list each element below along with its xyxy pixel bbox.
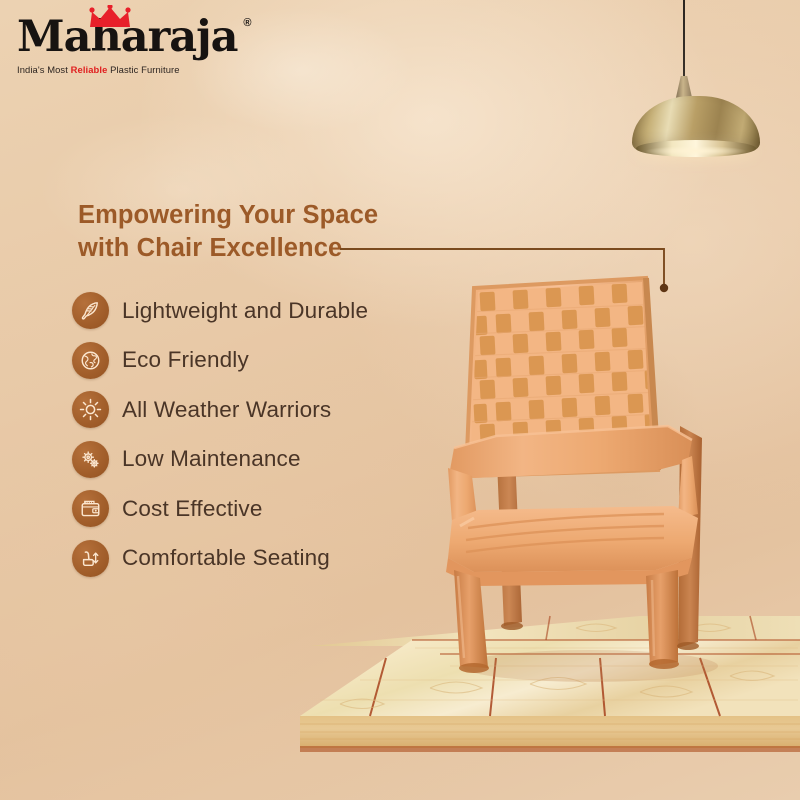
brand-tagline: India's Most Reliable Plastic Furniture xyxy=(17,64,195,75)
wallet-icon xyxy=(72,490,109,527)
lamp-cord xyxy=(683,0,685,80)
feature-label: Low Maintenance xyxy=(122,446,301,472)
brand-wordmark: Maharaja ® xyxy=(17,16,238,59)
feature-label: Comfortable Seating xyxy=(122,545,330,571)
feature-label: Lightweight and Durable xyxy=(122,298,368,324)
feature-item-lightweight[interactable]: Lightweight and Durable xyxy=(72,286,492,336)
feature-item-eco-friendly[interactable]: Eco Friendly xyxy=(72,336,492,386)
tagline-prefix: India's Most xyxy=(17,64,71,75)
feature-label: Eco Friendly xyxy=(122,347,249,373)
feature-item-all-weather[interactable]: All Weather Warriors xyxy=(72,385,492,435)
tagline-suffix: Plastic Furniture xyxy=(107,64,179,75)
sun-icon xyxy=(72,391,109,428)
registered-mark: ® xyxy=(243,18,250,29)
page-title: Empowering Your Space with Chair Excelle… xyxy=(78,199,378,265)
feature-list: Lightweight and Durable Eco Friendly All… xyxy=(72,286,492,583)
tagline-highlight: Reliable xyxy=(71,64,108,75)
headline-line-1: Empowering Your Space xyxy=(78,199,378,232)
product-chair xyxy=(430,270,760,690)
lamp-glow xyxy=(646,146,746,156)
feature-label: Cost Effective xyxy=(122,496,263,522)
headline-line-2: with Chair Excellence xyxy=(78,232,378,265)
globe-leaf-icon xyxy=(72,342,109,379)
feature-item-cost-effective[interactable]: Cost Effective xyxy=(72,484,492,534)
crown-icon xyxy=(88,0,132,18)
brand-logo: Maharaja ® India's Most Reliable Plastic… xyxy=(17,16,195,75)
seat-comfort-icon xyxy=(72,540,109,577)
feature-item-low-maintenance[interactable]: Low Maintenance xyxy=(72,435,492,485)
feather-icon xyxy=(72,292,109,329)
pendant-lamp xyxy=(650,0,760,165)
feature-label: All Weather Warriors xyxy=(122,397,331,423)
gears-icon xyxy=(72,441,109,478)
feature-item-comfortable-seating[interactable]: Comfortable Seating xyxy=(72,534,492,584)
